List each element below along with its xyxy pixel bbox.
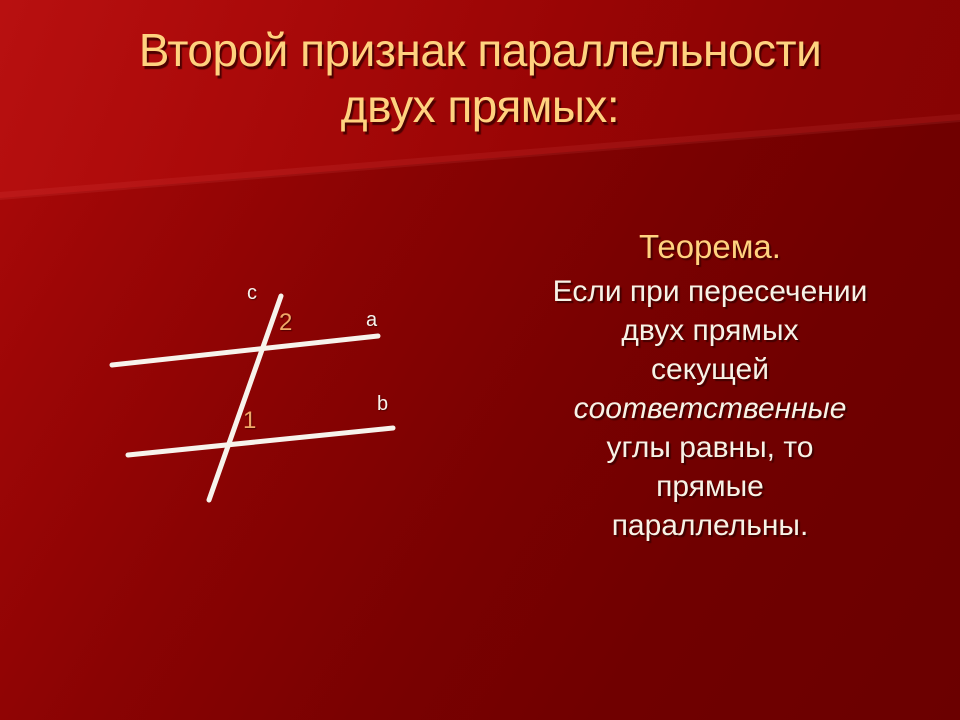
theorem-line-emphasis: соответственные bbox=[500, 389, 920, 428]
theorem-body: Если при пересечении двух прямых секущей… bbox=[500, 272, 920, 545]
geometry-line-c-transversal bbox=[209, 296, 281, 500]
diagram-angle-label-2: 2 bbox=[279, 311, 292, 335]
theorem-line: параллельны. bbox=[500, 506, 920, 545]
theorem-line: углы равны, то bbox=[500, 428, 920, 467]
theorem-line: секущей bbox=[500, 350, 920, 389]
theorem-line: прямые bbox=[500, 467, 920, 506]
theorem-text-block: Теорема. Если при пересечении двух прямы… bbox=[500, 226, 920, 545]
theorem-line: Если при пересечении bbox=[500, 272, 920, 311]
theorem-heading: Теорема. bbox=[500, 226, 920, 268]
slide-canvas: Второй признак параллельности двух прямы… bbox=[0, 0, 960, 720]
diagram-label-b: b bbox=[377, 394, 388, 414]
slide-title: Второй признак параллельности двух прямы… bbox=[30, 22, 930, 134]
geometry-line-a bbox=[112, 336, 378, 365]
theorem-line: двух прямых bbox=[500, 311, 920, 350]
diagram-label-a: a bbox=[366, 310, 377, 330]
diagram-label-c: c bbox=[247, 283, 257, 303]
geometry-line-b bbox=[128, 428, 393, 455]
diagram-angle-label-1: 1 bbox=[243, 409, 256, 433]
